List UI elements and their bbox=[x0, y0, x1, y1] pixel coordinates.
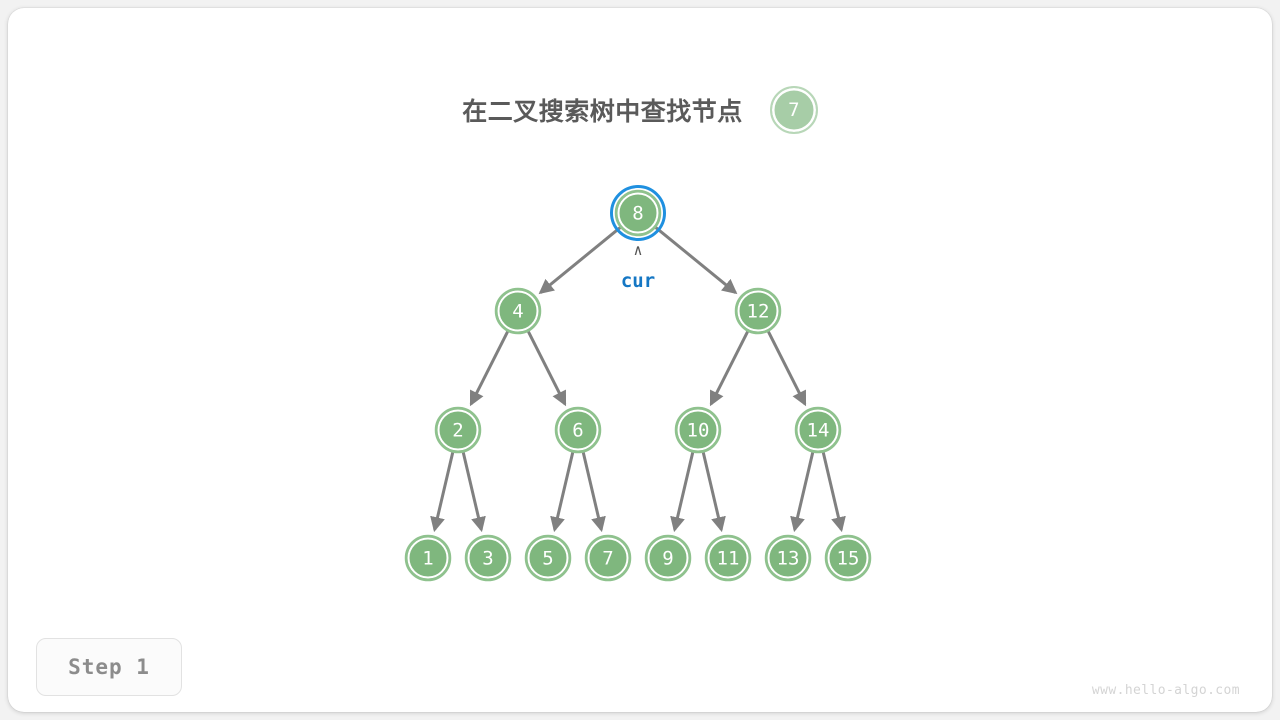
node-value: 8 bbox=[632, 203, 643, 225]
tree-edge bbox=[795, 452, 813, 529]
tree-edge bbox=[463, 452, 481, 529]
node-value: 13 bbox=[777, 548, 800, 570]
node-value: 10 bbox=[687, 420, 710, 442]
tree-node: 15 bbox=[826, 536, 870, 580]
tree-node: 1 bbox=[406, 536, 450, 580]
pointer-label: cur bbox=[621, 270, 655, 292]
tree-edge bbox=[703, 452, 721, 529]
node-value: 1 bbox=[422, 548, 433, 570]
tree-node: 9 bbox=[646, 536, 690, 580]
tree-edge bbox=[656, 228, 736, 293]
tree-edge bbox=[540, 228, 620, 293]
cursor-pointer-layer: ∧cur bbox=[621, 241, 655, 292]
tree-node: 12 bbox=[736, 289, 780, 333]
tree-node: 11 bbox=[706, 536, 750, 580]
tree-edge bbox=[471, 332, 508, 405]
screenshot-canvas: 在二叉搜索树中查找节点 7 841226101413579111315 ∧cur… bbox=[0, 0, 1280, 720]
tree-node: 3 bbox=[466, 536, 510, 580]
node-value: 2 bbox=[452, 420, 463, 442]
tree-node: 6 bbox=[556, 408, 600, 452]
binary-search-tree-graphic: 841226101413579111315 ∧cur bbox=[0, 0, 1280, 720]
node-value: 5 bbox=[542, 548, 553, 570]
tree-edge bbox=[435, 452, 453, 529]
tree-node: 5 bbox=[526, 536, 570, 580]
node-value: 11 bbox=[717, 548, 740, 570]
tree-node: 13 bbox=[766, 536, 810, 580]
tree-edge bbox=[768, 332, 805, 405]
node-value: 9 bbox=[662, 548, 673, 570]
node-value: 4 bbox=[512, 301, 523, 323]
watermark: www.hello-algo.com bbox=[1092, 683, 1240, 698]
tree-edge bbox=[711, 332, 748, 405]
tree-edge bbox=[555, 452, 573, 529]
tree-node: 14 bbox=[796, 408, 840, 452]
node-value: 3 bbox=[482, 548, 493, 570]
tree-node: 2 bbox=[436, 408, 480, 452]
tree-edge bbox=[675, 452, 693, 529]
node-value: 14 bbox=[807, 420, 830, 442]
tree-node: 10 bbox=[676, 408, 720, 452]
tree-edge bbox=[528, 332, 565, 405]
node-value: 7 bbox=[602, 548, 613, 570]
tree-node: 7 bbox=[586, 536, 630, 580]
step-badge: Step 1 bbox=[36, 638, 182, 696]
step-badge-label: Step 1 bbox=[68, 655, 150, 679]
node-value: 6 bbox=[572, 420, 583, 442]
node-value: 12 bbox=[747, 301, 770, 323]
node-value: 15 bbox=[837, 548, 860, 570]
pointer-caret-icon: ∧ bbox=[633, 241, 642, 259]
tree-edge bbox=[823, 452, 841, 529]
tree-node: 4 bbox=[496, 289, 540, 333]
tree-node: 8 bbox=[612, 187, 665, 240]
tree-edge bbox=[583, 452, 601, 529]
